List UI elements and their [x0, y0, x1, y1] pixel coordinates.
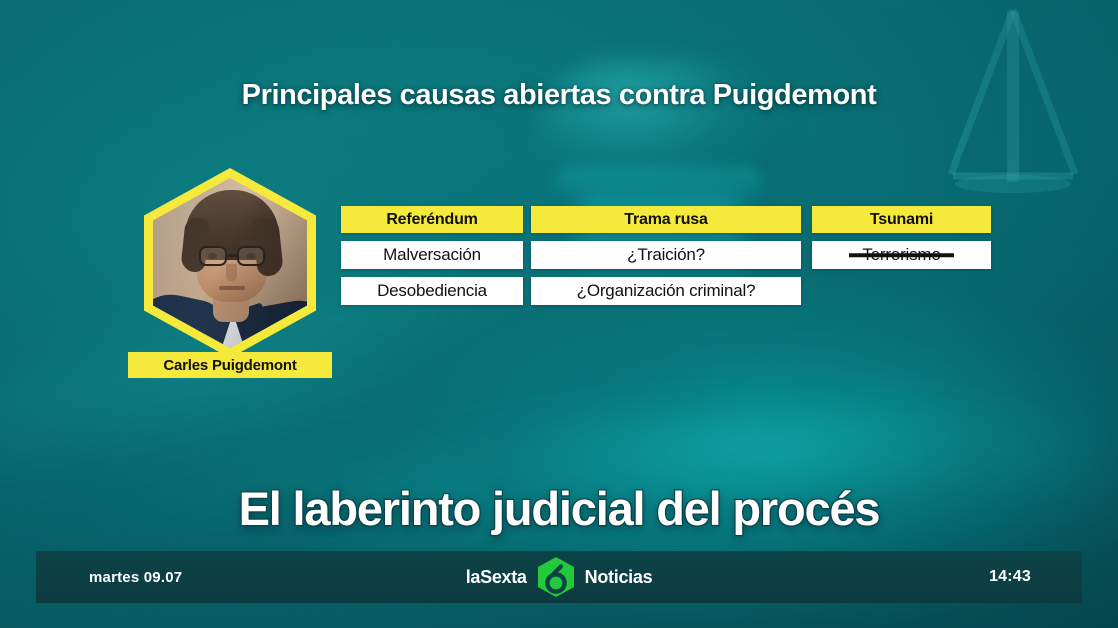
- table-cell-label: ¿Traición?: [627, 245, 705, 265]
- subtitle: El laberinto judicial del procés: [0, 481, 1118, 536]
- table-column-referendum: Referéndum Malversación Desobediencia: [341, 206, 523, 305]
- channel-branding: laSexta Noticias: [36, 557, 1082, 597]
- channel-name: laSexta: [466, 567, 527, 588]
- table-cell: ¿Traición?: [531, 241, 801, 269]
- table-cell-label: Terrorismo: [862, 245, 940, 265]
- page-title: Principales causas abiertas contra Puigd…: [0, 79, 1118, 112]
- table-column-tsunami: Tsunami Terrorismo: [812, 206, 991, 269]
- table-cell: Malversación: [341, 241, 523, 269]
- table-cell-label: ¿Organización criminal?: [577, 281, 756, 301]
- table-cell-label: Malversación: [383, 245, 481, 265]
- status-bar: martes 09.07 laSexta Noticias 14:43: [36, 551, 1082, 603]
- table-cell: ¿Organización criminal?: [531, 277, 801, 305]
- program-name: Noticias: [585, 567, 653, 588]
- person-name-tag: Carles Puigdemont: [128, 352, 332, 378]
- table-cell-label: Desobediencia: [377, 281, 487, 301]
- clock-label: 14:43: [989, 568, 1031, 586]
- column-header: Tsunami: [812, 206, 991, 233]
- broadcast-graphic: Principales causas abiertas contra Puigd…: [0, 0, 1118, 628]
- lasexta-six-hexagon-logo-icon: [538, 557, 574, 597]
- column-header: Referéndum: [341, 206, 523, 233]
- avatar: [144, 168, 316, 358]
- table-column-trama-rusa: Trama rusa ¿Traición? ¿Organización crim…: [531, 206, 801, 305]
- column-header: Trama rusa: [531, 206, 801, 233]
- table-cell-struck: Terrorismo: [812, 241, 991, 269]
- table-cell: Desobediencia: [341, 277, 523, 305]
